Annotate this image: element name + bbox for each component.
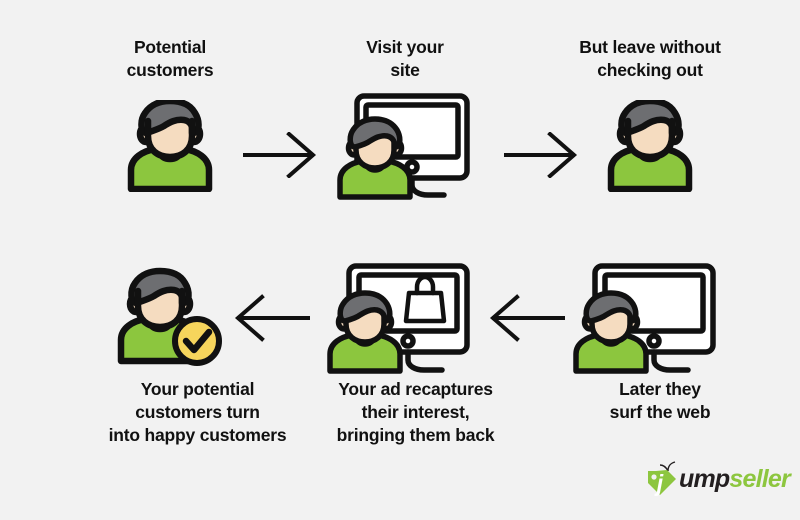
logo-text-ump: ump (679, 467, 729, 492)
logo-text-seller: seller (729, 467, 790, 492)
step-5-caption: Your ad recaptures their interest, bring… (337, 378, 495, 447)
step-2-caption: Visit your site (366, 36, 443, 82)
step-1-caption-block: Potential customers (85, 36, 255, 82)
step-4-caption-block: Later they surf the web (570, 378, 750, 424)
jumpseller-logo[interactable]: j ump seller (645, 461, 790, 497)
arrow-left-icon (483, 294, 565, 342)
infographic-canvas: Potential customers Visit your site But … (0, 0, 800, 520)
step-4-caption: Later they surf the web (610, 378, 711, 424)
step-1-caption: Potential customers (127, 36, 214, 82)
step-6-caption-block: Your potential customers turn into happy… (70, 378, 325, 447)
step-3-caption: But leave without checking out (579, 36, 720, 82)
check-badge-icon (175, 319, 219, 363)
person-at-monitor-icon (336, 92, 470, 200)
step-6-caption: Your potential customers turn into happy… (109, 378, 287, 447)
arrow-left-icon (228, 294, 310, 342)
step-2-caption-block: Visit your site (320, 36, 490, 82)
step-3-caption-block: But leave without checking out (555, 36, 745, 82)
price-tag-j-icon: j (645, 461, 679, 497)
arrow-right-icon (504, 132, 584, 178)
person-avatar-icon (598, 100, 702, 192)
step-5-caption-block: Your ad recaptures their interest, bring… (308, 378, 523, 447)
person-at-monitor-with-shopping-bag-ad-icon (326, 262, 472, 374)
person-avatar-icon (118, 100, 222, 192)
person-avatar-with-check-badge-icon (108, 260, 226, 366)
arrow-right-icon (243, 132, 323, 178)
person-at-monitor-icon (572, 262, 718, 374)
